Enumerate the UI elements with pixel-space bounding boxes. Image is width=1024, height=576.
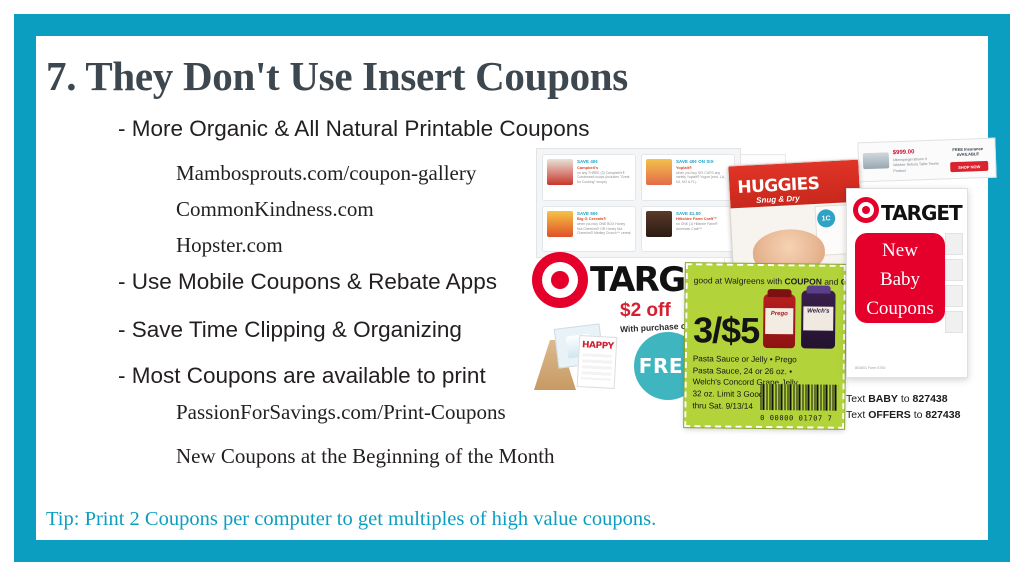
sub-item-3: Hopster.com [176,233,283,258]
text-mid-2: to [911,409,926,421]
banner-ad-price: $999.00 [893,149,915,156]
coupon-barcode-number: 0 00000 01707 7 [754,414,838,423]
text-keyword-2: OFFERS [868,409,911,421]
text-offer-offers: Text OFFERS to 827438 [846,408,1006,424]
target-wordmark-small: TARGET [881,201,962,225]
coupon-product-photos: Prego Welch's [761,288,836,351]
badge-line-2: Baby [855,265,945,294]
target-bullseye-logo-icon-small [853,197,879,223]
coupon-brand: Yoplait® [676,165,730,170]
coupon-product-thumb [646,159,672,185]
coupon-brand: Campbell's [577,165,631,170]
sub-item-4: PassionForSavings.com/Print-Coupons [176,400,506,425]
coupon-collage: Pr S Home / F Sear $999.00 Ullenspiegel … [528,140,996,440]
coupon-product-thumb [547,211,573,237]
new-baby-coupons-badge: New Baby Coupons [855,233,945,323]
coupon-product-thumb [547,159,573,185]
huggies-diaper-box: HUGGIES Snug & Dry 1C [727,159,864,274]
coupon-description: when you buy SIX CUPS any variety Yoplai… [676,171,730,185]
walgreens-green-coupon: 0 00000 01708 0 good at Walgreens with C… [684,263,846,429]
text-offer-lines: Text BABY to 827438 Text OFFERS to 82743… [846,392,1006,424]
bullet-item-2: - Use Mobile Coupons & Rebate Apps [118,269,497,295]
coupon-barcode [760,384,838,411]
sub-item-5: New Coupons at the Beginning of the Mont… [176,444,555,469]
bullet-item-3: - Save Time Clipping & Organizing [118,317,462,343]
coupon-header-pre: good at Walgreens with [694,275,785,286]
happy-card-text: HAPPY [580,340,616,352]
tip-text: Tip: Print 2 Coupons per computer to get… [46,508,656,531]
text-shortcode-2: 827438 [925,409,960,421]
bullet-item-4: - Most Coupons are available to print [118,363,486,389]
gallery-coupon-card[interactable]: SAVE 50¢ Big G Cereals® when you buy ONE… [542,206,636,253]
banner-ad-product-image [863,152,890,169]
shop-now-button[interactable]: SHOP NOW [950,161,988,172]
gallery-coupon-card[interactable]: SAVE 40¢ Campbell's on any THREE (3) Cam… [542,154,636,201]
coupon-description: when you buy ONE BOX Honey Nut Cheerios®… [577,222,631,236]
welchs-jar-image: Welch's [801,290,836,348]
coupon-brand: Big G Cereals® [577,216,631,221]
gallery-coupon-card[interactable]: SAVE $1.00 Hillshire Farm Craft™ on ONE … [641,206,735,253]
coupon-description: on ONE (1) Hillshire Farm® American Craf… [676,222,730,231]
badge-line-3: Coupons [855,294,945,323]
happy-birthday-card: HAPPY [577,335,618,389]
banner-ad-free-note: FREE Insurance AVAILABLE [946,146,990,158]
text-keyword: BABY [868,393,898,405]
coupon-brand: Hillshire Farm Craft™ [676,216,730,221]
text-offer-baby: Text BABY to 827438 [846,392,1006,408]
text-mid: to [898,393,913,405]
coupon-product-thumb [646,211,672,237]
text-prefix: Text [846,393,868,405]
sub-item-2: CommonKindness.com [176,197,374,222]
badge-line-1: New [855,236,945,265]
greeting-cards-photo: HAPPY [534,326,630,390]
banner-ad-description: Ullenspiegel Brown II Webber Nebula Tabl… [893,157,940,175]
page-title: 7. They Don't Use Insert Coupons [46,52,628,100]
discount-amount: $2 off [620,300,671,322]
prego-label: Prego [765,308,793,334]
text-shortcode: 827438 [913,393,948,405]
banner-ad[interactable]: $999.00 Ullenspiegel Brown II Webber Neb… [857,138,996,183]
target-new-baby-coupons-flyer: TARGET New Baby Coupons 803601 Form 6750 [846,188,968,378]
printable-coupon-gallery: SAVE 40¢ Campbell's on any THREE (3) Cam… [536,148,741,258]
flyer-footer-code: 803601 Form 6750 [855,366,885,371]
coupon-top-number: 0 00000 01708 0 [694,263,811,266]
text-prefix-2: Text [846,409,868,421]
prego-jar-image: Prego [763,294,796,348]
coupon-price: 3/$5 [693,309,760,352]
bullet-item-1: - More Organic & All Natural Printable C… [118,116,589,142]
coupon-description: on any THREE (3) Campbell's® Condensed s… [577,171,631,185]
slide-canvas: 7. They Don't Use Insert Coupons - More … [0,0,1024,576]
flyer-coupon-strip [945,233,963,341]
sub-item-1: Mambosprouts.com/coupon-gallery [176,161,476,186]
welchs-label: Welch's [803,306,833,330]
target-bullseye-logo-icon [532,252,588,308]
gallery-coupon-card[interactable]: SAVE 40¢ ON SIX Yoplait® when you buy SI… [641,154,735,201]
